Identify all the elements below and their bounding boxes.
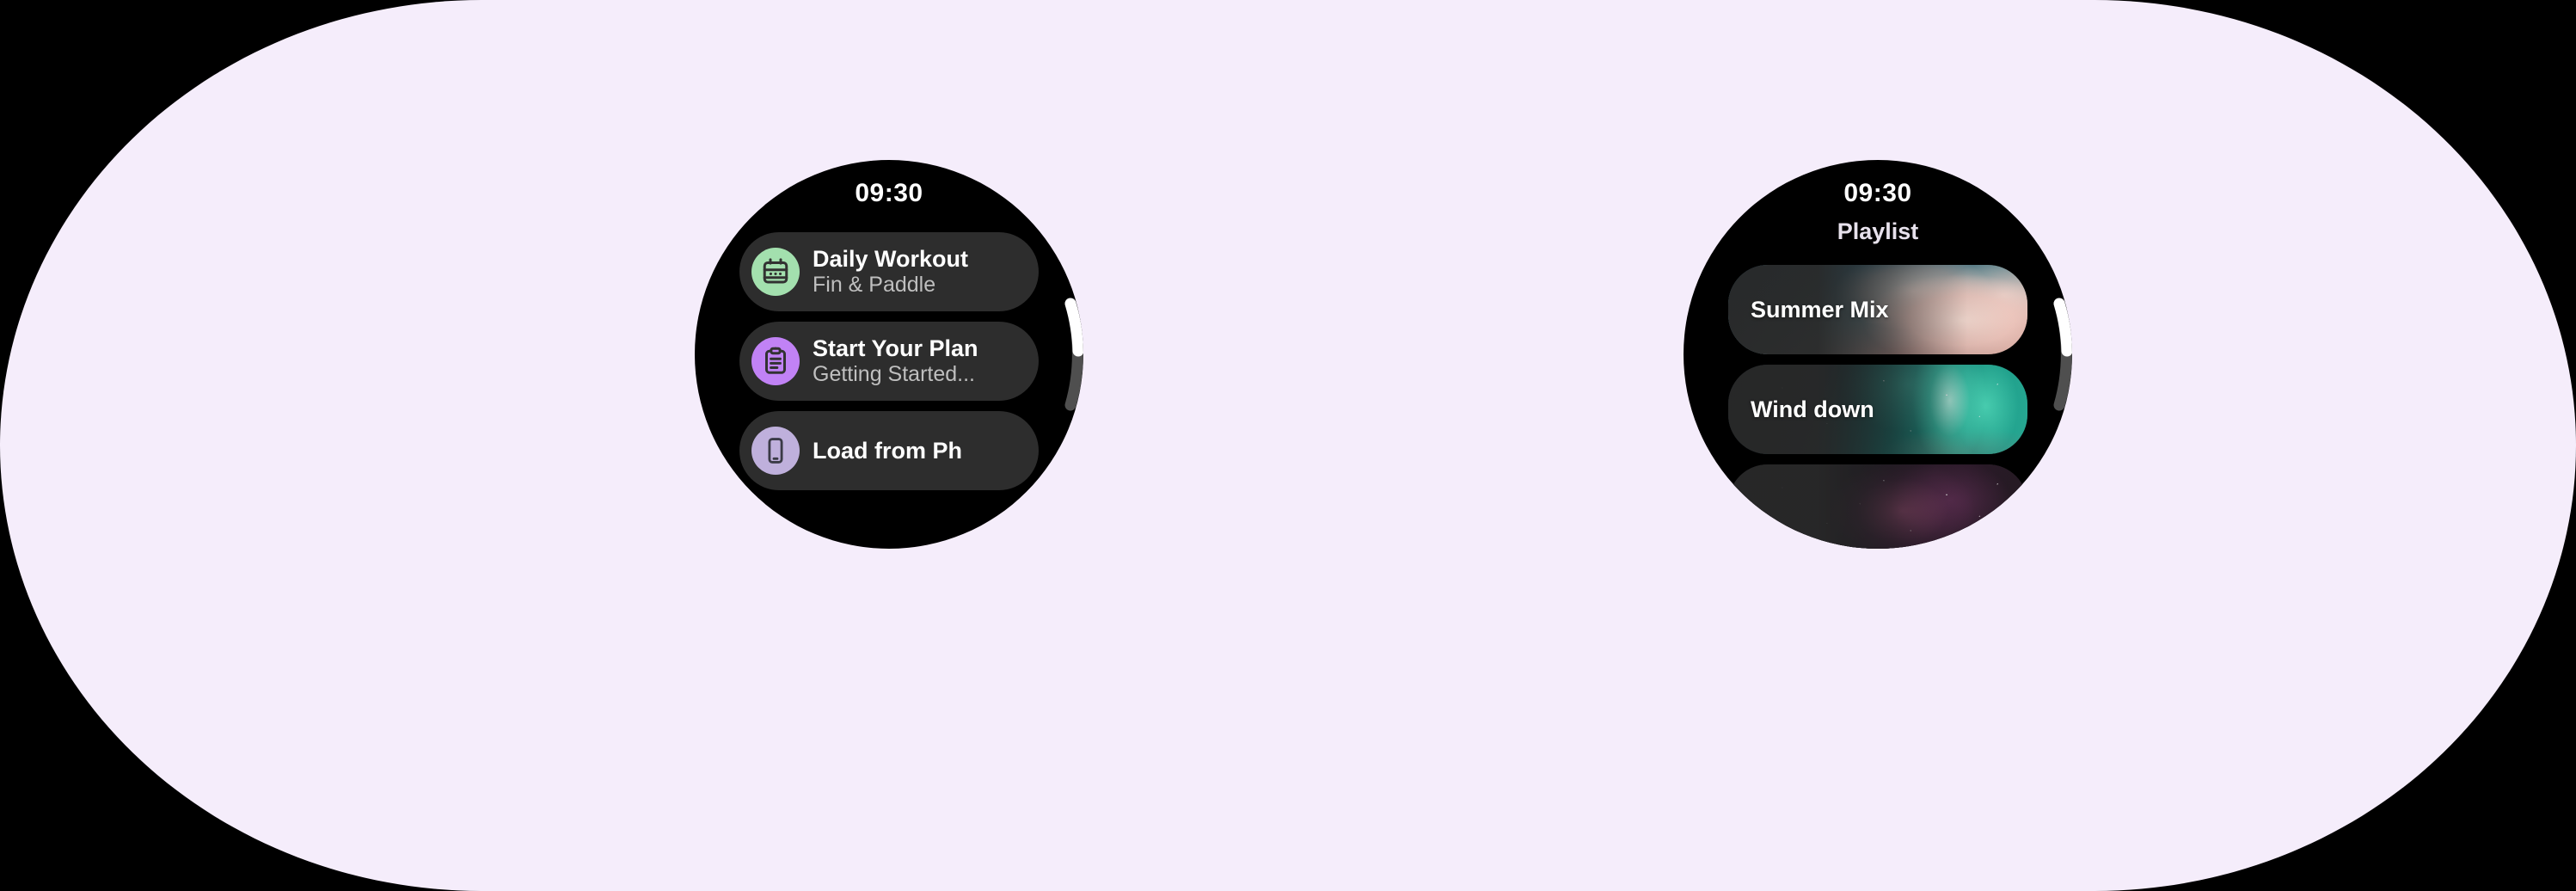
list-item-title: Daily Workout bbox=[813, 246, 968, 272]
calendar-icon bbox=[751, 248, 800, 296]
scrollable-list-left[interactable]: Daily Workout Fin & Paddle bbox=[695, 232, 1083, 501]
watch-device-right: 09:30 Playlist Summer Mix Wind down bbox=[1684, 160, 2072, 549]
list-item-text: Load from Ph bbox=[813, 438, 962, 464]
clipboard-icon bbox=[751, 337, 800, 385]
status-bar-time: 09:30 bbox=[1684, 179, 2072, 208]
preview-stage: 09:30 Daily Work bbox=[0, 0, 2576, 891]
playlist-card[interactable] bbox=[1728, 464, 2027, 549]
list-item[interactable]: Daily Workout Fin & Paddle bbox=[739, 232, 1039, 311]
scrollable-list-right[interactable]: Summer Mix Wind down bbox=[1684, 265, 2072, 549]
list-item-title: Start Your Plan bbox=[813, 335, 978, 361]
list-item-title: Load from Ph bbox=[813, 438, 962, 464]
list-item[interactable]: Load from Ph bbox=[739, 411, 1039, 490]
watch-device-left: 09:30 Daily Work bbox=[695, 160, 1083, 549]
phone-icon bbox=[751, 427, 800, 475]
playlist-card-title: Wind down bbox=[1728, 396, 1874, 423]
list-item-text: Daily Workout Fin & Paddle bbox=[813, 246, 968, 298]
card-scrim bbox=[1728, 464, 2027, 549]
page-title: Playlist bbox=[1684, 218, 2072, 245]
status-bar-time: 09:30 bbox=[695, 179, 1083, 208]
list-item[interactable]: Start Your Plan Getting Started... bbox=[739, 322, 1039, 401]
list-item-text: Start Your Plan Getting Started... bbox=[813, 335, 978, 387]
playlist-card[interactable]: Wind down bbox=[1728, 365, 2027, 454]
list-item-subtitle: Getting Started... bbox=[813, 362, 978, 387]
playlist-card-title: Summer Mix bbox=[1728, 297, 1889, 323]
playlist-card[interactable]: Summer Mix bbox=[1728, 265, 2027, 354]
list-item-subtitle: Fin & Paddle bbox=[813, 273, 968, 298]
